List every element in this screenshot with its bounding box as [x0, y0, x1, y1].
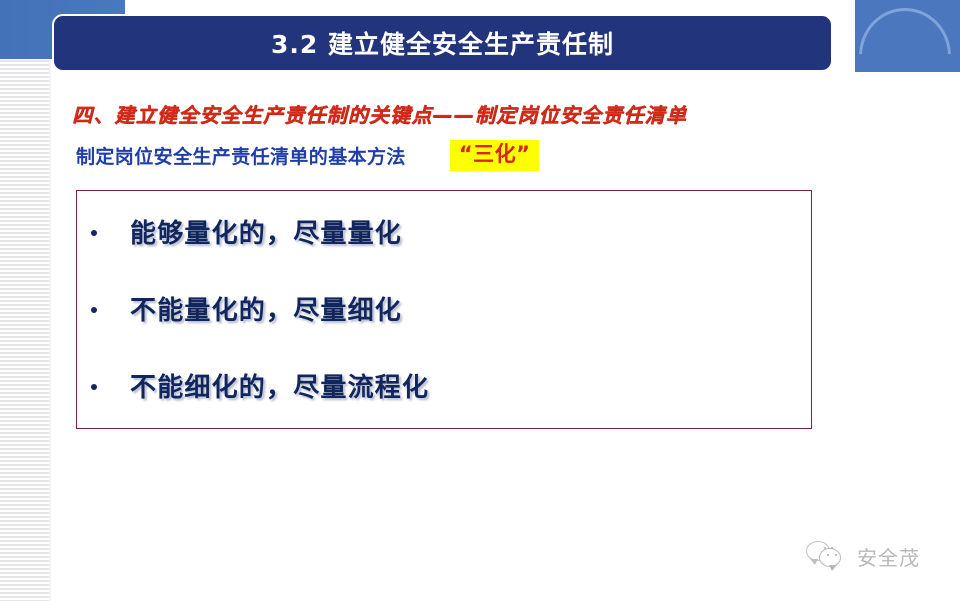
- highlight-badge: “三化”: [450, 140, 540, 171]
- slide-title: 3.2 建立健全安全生产责任制: [271, 25, 614, 61]
- sub-heading-text: 制定岗位安全生产责任清单的基本方法: [76, 142, 406, 169]
- top-right-blue-block: [855, 0, 960, 72]
- presentation-slide: 3.2 建立健全安全生产责任制 四、建立健全安全生产责任制的关键点——制定岗位安…: [0, 0, 960, 601]
- list-item-label: 能够量化的，尽量量化: [130, 213, 402, 250]
- list-item-label: 不能细化的，尽量流程化: [130, 367, 429, 404]
- bullet-dot-icon: [91, 384, 97, 390]
- content-box: 能够量化的，尽量量化 不能量化的，尽量细化 不能细化的，尽量流程化: [76, 190, 812, 429]
- sub-heading-row: 制定岗位安全生产责任清单的基本方法 “三化”: [76, 140, 539, 171]
- slide-title-bar: 3.2 建立健全安全生产责任制: [52, 14, 833, 72]
- arc-decoration-icon: [859, 8, 951, 72]
- watermark-label: 安全茂: [857, 542, 920, 571]
- list-item: 不能细化的，尽量流程化: [77, 367, 811, 444]
- left-stripe-decoration: [0, 58, 49, 601]
- watermark: 安全茂: [806, 540, 920, 572]
- list-item: 能够量化的，尽量量化: [77, 213, 811, 290]
- left-stripe-edge: [49, 58, 51, 601]
- bullet-dot-icon: [91, 230, 97, 236]
- bullet-dot-icon: [91, 307, 97, 313]
- list-item: 不能量化的，尽量细化: [77, 290, 811, 367]
- section-heading-red: 四、建立健全安全生产责任制的关键点——制定岗位安全责任清单: [72, 99, 882, 128]
- speech-bubble-front-icon: [819, 548, 841, 567]
- list-item-label: 不能量化的，尽量细化: [130, 290, 402, 327]
- wechat-bubbles-icon: [806, 540, 848, 572]
- bullet-list: 能够量化的，尽量量化 不能量化的，尽量细化 不能细化的，尽量流程化: [77, 191, 811, 428]
